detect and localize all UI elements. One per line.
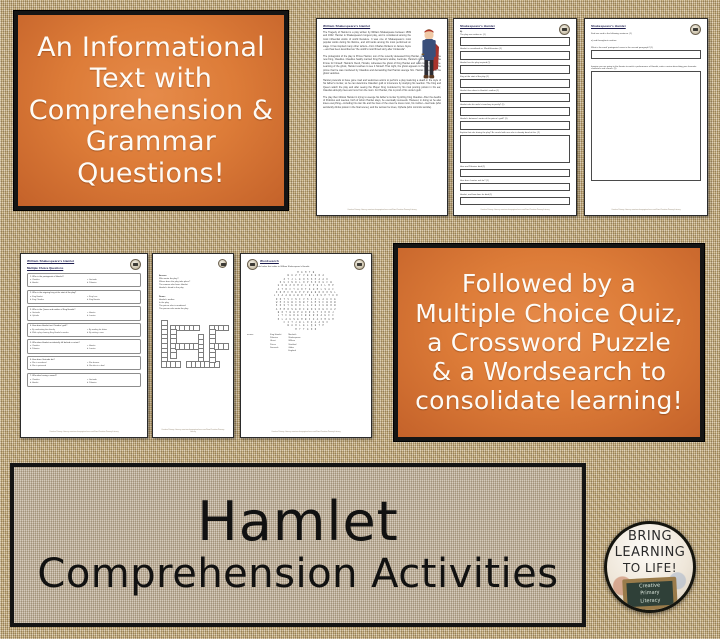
mcq-option-d[interactable]: d. She dies in a duel <box>87 365 138 368</box>
answer-field-7[interactable] <box>460 121 570 130</box>
page-title: Shakespeare's Hamlet <box>460 24 570 28</box>
mcq-option-d[interactable]: d. Laertes <box>87 315 138 318</box>
answer-field-3[interactable] <box>460 65 570 74</box>
promo-panel-informational-text: An Informational Text with Comprehension… <box>14 11 288 210</box>
page-footer: Creative Primary Literacy www.teacherspa… <box>247 431 365 433</box>
down-clue-1: Hamlet's mother <box>159 299 227 301</box>
mcq-option-d[interactable]: d. By visiting a seer <box>87 332 138 335</box>
preview-page-questions-1[interactable]: Shakespeare's Hamlet A) The play was wri… <box>453 18 577 216</box>
page-footer: Creative Primary Literacy www.teacherspa… <box>460 209 570 211</box>
mcq-item[interactable]: 3. Who is the Queen and mother of King H… <box>27 306 141 320</box>
preview-page-information-text[interactable]: William Shakespeare's Hamlet The Tragedy… <box>316 18 448 216</box>
page-title: Shakespeare's Hamlet <box>591 24 701 28</box>
mcq-option-b[interactable]: b. King Claudius <box>30 299 81 302</box>
across-clue-3: The woman who loves Hamlet <box>159 284 227 286</box>
answer-field-6[interactable] <box>460 107 570 116</box>
award-seal-icon <box>218 259 227 268</box>
award-seal-icon-left <box>247 259 258 270</box>
preview-page-crossword[interactable]: Across: Who wrote the play? Where does t… <box>152 253 234 438</box>
answer-field-4[interactable] <box>460 79 570 88</box>
mcq-question: 6. How does Gertrude die? <box>30 359 138 361</box>
question-1: Find one verb in the following sentence.… <box>591 33 701 35</box>
page-subtitle: Comprehension Activities <box>37 553 558 595</box>
promo-panel-quiz-lines: Followed by a Multiple Choice Quiz, a Cr… <box>407 265 691 419</box>
mcq-option-b[interactable]: b. With a play showing King Hamlet's mur… <box>30 332 81 335</box>
paragraph-1: The Tragedy of Hamlet is a play written … <box>323 31 411 52</box>
logo-line-1: BRING <box>628 530 672 543</box>
question-2: Hamlet is considered as. World literatur… <box>460 48 570 50</box>
word-list-column-1: King Hamlet Polonius Ghost Prince Denmar… <box>270 334 281 353</box>
answer-field-1[interactable] <box>591 50 701 59</box>
answer-field-8[interactable] <box>460 135 570 163</box>
mcq-option-b[interactable]: b. Hamlet <box>30 382 81 385</box>
mcq-item[interactable]: 1. Who is the protagonist of Hamlet? a. … <box>27 273 141 287</box>
brand-logo-badge[interactable]: BRING LEARNING TO LIFE! Creative Primary… <box>604 521 696 613</box>
promo-line-1: An Informational <box>29 32 274 64</box>
question-3: Hamlet has the play inspired (1) <box>460 62 570 64</box>
chalkboard-icon: Creative Primary Literacy <box>622 577 678 612</box>
page-footer: Creative Primary Literacy www.teacherspa… <box>27 431 141 433</box>
section-label: A) <box>460 31 570 33</box>
promo-line-3: Comprehension & <box>29 95 274 127</box>
logo-line-3: TO LIFE! <box>623 562 677 574</box>
promo-line-1: Followed by a <box>415 269 683 298</box>
wordsearch-word-list: across: King Hamlet Polonius Ghost Princ… <box>247 334 365 353</box>
down-label: Down: <box>159 296 227 298</box>
crossword-grid[interactable] <box>159 320 227 384</box>
answer-field-10[interactable] <box>460 183 570 192</box>
mcq-item[interactable]: 7. Who dies having a sword? a. Claudius … <box>27 373 141 387</box>
logo-line-2: LEARNING <box>615 546 686 559</box>
paragraph-4: The play then follows Hamlet in trying t… <box>323 96 441 110</box>
question-3: Imagine you are going to the theatre to … <box>591 66 701 70</box>
mcq-question: 7. Who dies having a sword? <box>30 375 138 377</box>
page-title: Hamlet <box>197 495 399 549</box>
award-seal-icon <box>559 24 570 35</box>
wordsearch-grid[interactable]: M G M T B B U Z T V E N E R A Z T J L E … <box>260 271 352 331</box>
chalkboard-line-3: Literacy <box>640 597 660 606</box>
page-footer: Creative Primary Literacy www.teacherspa… <box>323 209 441 211</box>
mcq-question: 5. Who does Hamlet accidentally kill beh… <box>30 342 138 344</box>
down-clue-2: In the play <box>159 302 227 304</box>
promo-line-2: Text with <box>29 63 274 95</box>
promo-panel-quiz-crossword-wordsearch: Followed by a Multiple Choice Quiz, a Cr… <box>394 244 704 441</box>
promo-line-5: Questions! <box>29 158 274 190</box>
question-1: The play was written in. (1) <box>460 34 570 36</box>
award-seal-icon <box>690 24 701 35</box>
page-title: Wordsearch <box>260 259 365 263</box>
answer-field-2[interactable] <box>460 51 570 60</box>
award-seal-icon <box>354 259 365 270</box>
question-4: King at the start of the play (1) <box>460 76 570 78</box>
preview-page-wordsearch[interactable]: Wordsearch Find the words below that rel… <box>240 253 372 438</box>
mcq-option-d[interactable]: d. Polonius <box>87 382 138 385</box>
question-6: Hamlet who his uncle's treachery to paci… <box>460 104 570 106</box>
answer-field-1[interactable] <box>460 37 570 46</box>
question-9: How and Polonius died (1) <box>460 166 570 168</box>
preview-page-multiple-choice[interactable]: William Shakespeare's Hamlet Multiple Ch… <box>20 253 148 438</box>
question-7: Hamlet's between Laertes of the prince's… <box>460 118 570 120</box>
across-clue-4: Hamlet's friend in the play <box>159 287 227 289</box>
across-label: Across: <box>159 275 227 277</box>
answer-field-11[interactable] <box>460 197 570 206</box>
promo-line-5: consolidate learning! <box>415 386 683 415</box>
answer-field-essay[interactable] <box>591 71 701 181</box>
word-list-column-2: Macbeth Shakespeare William Stratford Gl… <box>288 334 300 353</box>
promo-line-4: & a Wordsearch to <box>415 357 683 386</box>
mcq-item[interactable]: 6. How does Gertrude die? a. She is murd… <box>27 356 141 370</box>
page-subtitle: Multiple Choice Questions <box>27 266 141 270</box>
answer-field-5[interactable] <box>460 93 570 102</box>
wordsearch-instruction: Find the words below that relate to Will… <box>247 266 365 268</box>
promo-line-2: Multiple Choice Quiz, <box>415 299 683 328</box>
question-5: Hamlet then about is Hamlet's mother (1) <box>460 90 570 92</box>
down-clue-3: The prince who is murdered <box>159 305 227 307</box>
question-10: How does Laertes ask for? (1) <box>460 180 570 182</box>
hamlet-character-illustration <box>416 27 442 89</box>
across-clue-1: Who wrote the play? <box>159 278 227 280</box>
across-clue-2: Where does the play take place? <box>159 281 227 283</box>
mcq-option-d[interactable]: d. King Horatio <box>87 299 138 302</box>
page-footer: Creative Primary Literacy www.teacherspa… <box>159 429 227 433</box>
question-11: Hamlet, and how does he died (1) <box>460 194 570 196</box>
answer-field-9[interactable] <box>460 169 570 178</box>
page-footer: Creative Primary Literacy www.teacherspa… <box>591 209 701 211</box>
mcq-option-d[interactable]: d. Laertes <box>87 348 138 351</box>
preview-page-questions-2[interactable]: Shakespeare's Hamlet Find one verb in th… <box>584 18 708 216</box>
word-item: Denmark <box>270 347 281 350</box>
title-banner: Hamlet Comprehension Activities <box>10 463 586 627</box>
promo-line-3: a Crossword Puzzle <box>415 328 683 357</box>
mcq-question: 2. Who is the reigning king at the start… <box>30 292 138 294</box>
promo-line-4: Grammar <box>29 126 274 158</box>
question-8: Explain that role during the play? Be ca… <box>460 132 570 134</box>
mcq-option-b[interactable]: b. Ophelia <box>30 315 81 318</box>
mcq-option-b[interactable]: b. Polonius <box>30 348 81 351</box>
down-clue-4: The person who wrote the play <box>159 308 227 310</box>
ws-row: M Y T G O R <box>295 328 316 331</box>
mcq-question: 3. Who is the Queen and mother of King H… <box>30 309 138 311</box>
mcq-question: 4. How does Hamlet test Claudius' guilt? <box>30 325 138 327</box>
question-2: What is the word 'protagonist' mean in t… <box>591 47 701 49</box>
question-1-sentence: a) and throughout carefree. <box>591 40 701 42</box>
promo-panel-informational-text-lines: An Informational Text with Comprehension… <box>21 28 282 194</box>
mcq-option-b[interactable]: b. Hamlet <box>30 282 81 285</box>
mcq-item[interactable]: 4. How does Hamlet test Claudius' guilt?… <box>27 323 141 337</box>
mcq-item[interactable]: 2. Who is the reigning king at the start… <box>27 290 141 304</box>
mcq-option-d[interactable]: d. Polonius <box>87 282 138 285</box>
mcq-item[interactable]: 5. Who does Hamlet accidentally kill beh… <box>27 339 141 353</box>
word-list-label: across: <box>247 334 263 353</box>
mcq-option-b[interactable]: b. She is poisoned <box>30 365 81 368</box>
word-item: England <box>288 350 300 353</box>
page-title: William Shakespeare's Hamlet <box>27 259 141 263</box>
mcq-question: 1. Who is the protagonist of Hamlet? <box>30 276 138 278</box>
award-seal-icon <box>130 259 141 270</box>
